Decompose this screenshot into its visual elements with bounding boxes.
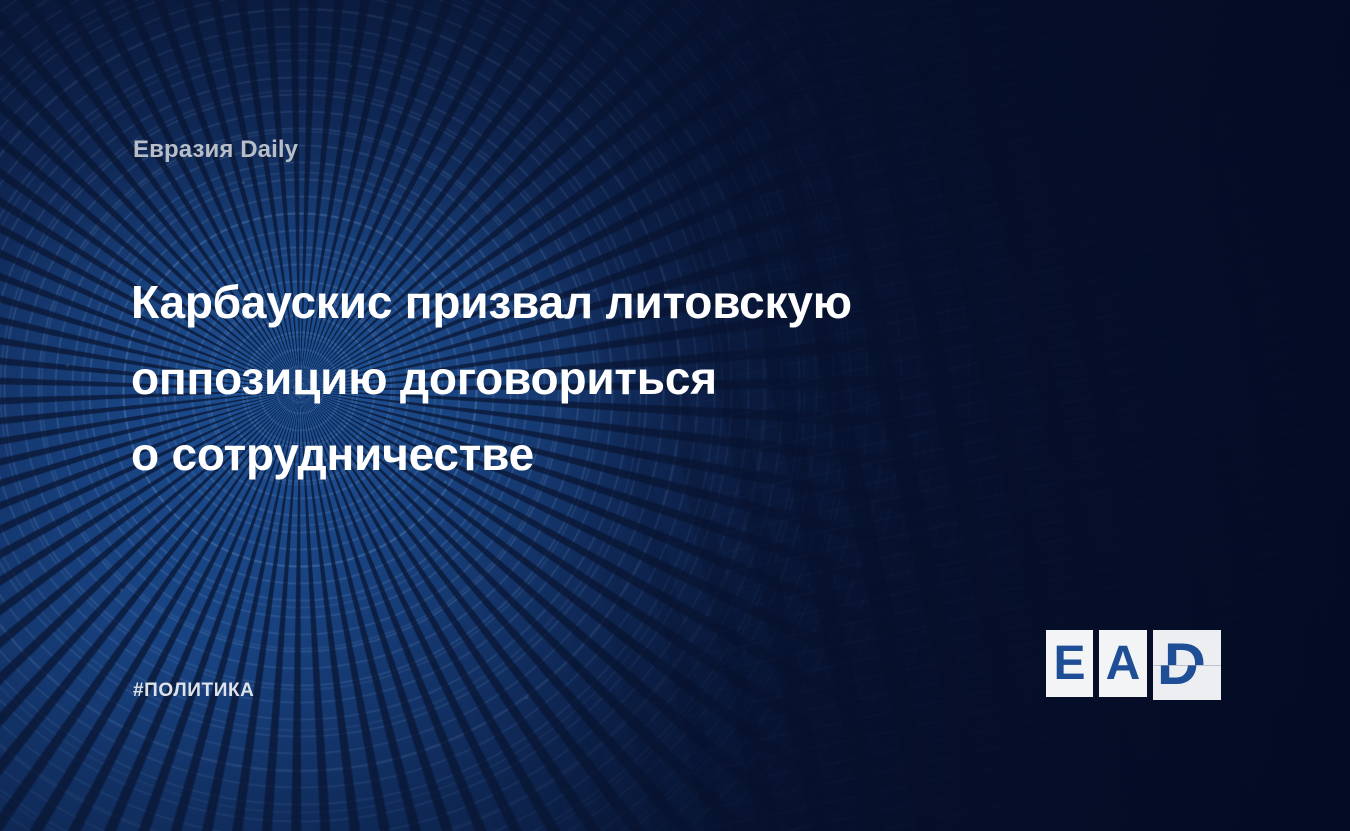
logo-letter-d-bottom: D [1157,665,1199,700]
logo-tile-d-divider [1153,665,1221,666]
logo-tile-d-top-half: D [1153,630,1221,665]
news-social-card: Евразия Daily Карбаускис призвал литовск… [0,0,1350,831]
headline: Карбаускис призвал литовскую оппозицию д… [131,264,1031,492]
publication-masthead: Евразия Daily [133,136,298,164]
ead-logo: E A D D [1046,630,1221,700]
logo-tile-d-bottom-half: D [1153,665,1221,700]
headline-line-1: Карбаускис призвал литовскую [131,264,1031,340]
logo-letter-d-top: D [1164,630,1206,665]
headline-line-3: о сотрудничестве [131,416,1031,492]
category-tag: #ПОЛИТИКА [133,680,255,702]
headline-line-2: оппозицию договориться [131,340,1031,416]
logo-tile-a: A [1099,630,1147,697]
card-content: Евразия Daily Карбаускис призвал литовск… [0,0,1350,831]
logo-tile-d: D D [1153,630,1221,700]
logo-tile-e: E [1046,630,1093,697]
